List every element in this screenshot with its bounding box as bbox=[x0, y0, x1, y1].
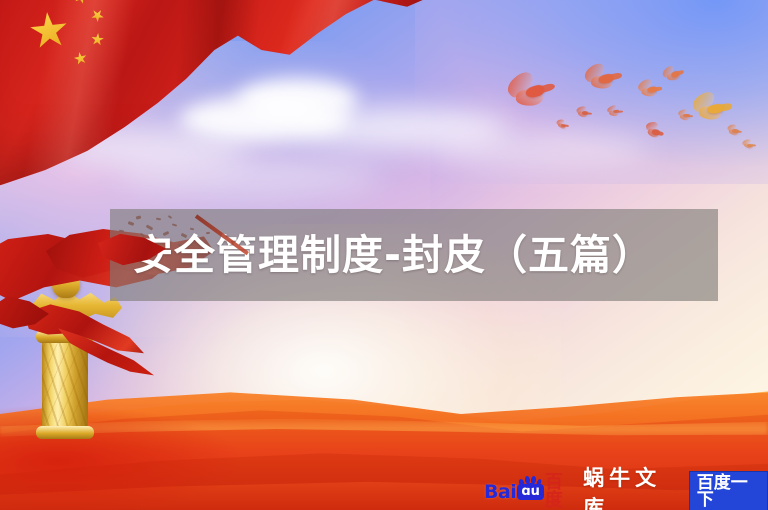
cover-image-canvas: 安全管理制度-封皮（五篇） Bai du 百度 蜗牛文库 百度一下 bbox=[0, 0, 768, 510]
dove-tail bbox=[751, 144, 756, 146]
chinese-flag bbox=[0, 0, 440, 194]
dove-icon bbox=[637, 78, 663, 98]
baidu-search-button[interactable]: 百度一下 bbox=[689, 471, 768, 510]
page-title: 安全管理制度-封皮（五篇） bbox=[132, 235, 654, 276]
watermark-bar: Bai du 百度 蜗牛文库 百度一下 bbox=[484, 478, 768, 506]
dove-icon bbox=[678, 110, 693, 121]
dove-tail bbox=[587, 112, 593, 115]
dove-tail bbox=[677, 70, 685, 76]
dove-tail bbox=[539, 82, 556, 93]
dove-tail bbox=[688, 115, 693, 117]
dove-icon bbox=[742, 140, 757, 150]
baidu-logo-bai: Bai bbox=[484, 483, 516, 502]
dove-tail bbox=[719, 103, 733, 112]
dove-icon bbox=[607, 105, 624, 116]
dove-tail bbox=[618, 110, 624, 113]
paw-print-icon bbox=[519, 476, 541, 487]
flag-fold-shading bbox=[0, 0, 440, 194]
huabiao-ring bbox=[36, 426, 94, 439]
dove-icon bbox=[575, 106, 592, 119]
baidu-logo-du: du bbox=[517, 484, 544, 500]
dove-icon bbox=[726, 124, 742, 137]
site-name-watermark: 蜗牛文库 bbox=[583, 462, 680, 510]
baidu-logo[interactable]: Bai du 百度 bbox=[484, 481, 574, 503]
dove-tail bbox=[654, 86, 663, 91]
baidu-logo-chinese: 百度 bbox=[545, 474, 574, 510]
dove-tail bbox=[609, 73, 622, 81]
cloud-shape bbox=[430, 132, 650, 168]
